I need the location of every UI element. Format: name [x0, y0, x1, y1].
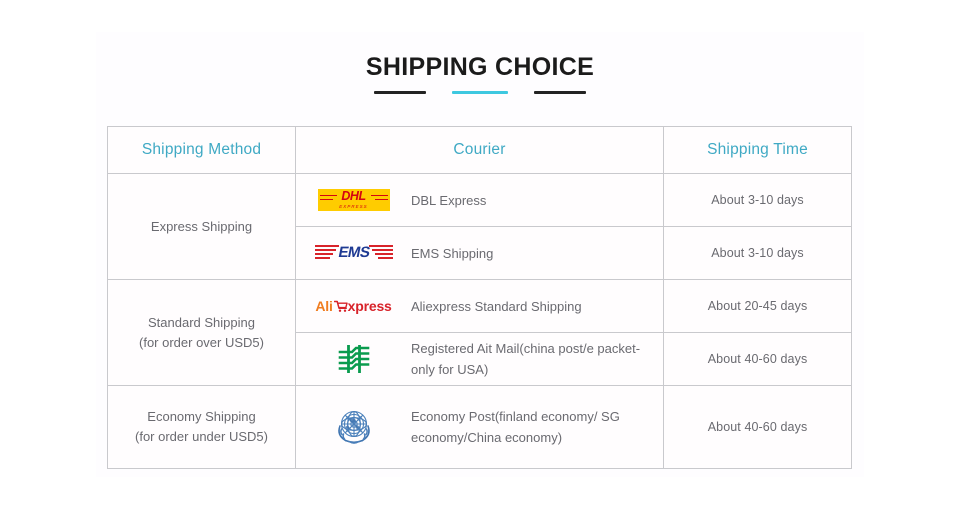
table-header-row: Shipping Method Courier Shipping Time	[108, 127, 852, 174]
courier-cell-aliexpress: Ali xpress A	[296, 280, 664, 333]
method-cell-express: Express Shipping	[108, 174, 296, 280]
aliexpress-logo: Ali xpress	[315, 298, 391, 314]
method-label-line2: (for order over USD5)	[108, 333, 295, 353]
title-rule-right	[534, 91, 586, 94]
time-cell: About 3-10 days	[664, 227, 852, 280]
courier-name: DBL Express	[411, 190, 494, 211]
title-rule-left	[374, 91, 426, 94]
time-cell: About 20-45 days	[664, 280, 852, 333]
logo-box: Ali xpress	[296, 298, 411, 314]
logo-box	[296, 339, 411, 379]
time-cell: About 40-60 days	[664, 333, 852, 386]
china-post-logo	[334, 339, 374, 379]
courier-name: Registered Ait Mail(china post/e packet-…	[411, 338, 663, 380]
method-cell-economy: Economy Shipping (for order under USD5)	[108, 386, 296, 469]
shopping-cart-icon	[334, 300, 348, 313]
page-title-block: SHIPPING CHOICE	[96, 52, 864, 94]
courier-name: EMS Shipping	[411, 243, 501, 264]
ems-logo: EMS	[315, 241, 393, 265]
logo-box	[296, 403, 411, 451]
un-emblem-logo	[330, 403, 378, 451]
page-title: SHIPPING CHOICE	[96, 52, 864, 82]
dhl-logo-word: DHL	[318, 190, 390, 203]
method-label-line1: Standard Shipping	[148, 315, 255, 330]
table-row: Economy Shipping (for order under USD5)	[108, 386, 852, 469]
ems-logo-word: EMS	[336, 244, 370, 261]
courier-cell-dhl: DHL EXPRESS DBL Express	[296, 174, 664, 227]
time-cell: About 3-10 days	[664, 174, 852, 227]
table-row: Standard Shipping (for order over USD5) …	[108, 280, 852, 333]
logo-box: EMS	[296, 241, 411, 265]
courier-cell-ems: EMS EMS Shipping	[296, 227, 664, 280]
courier-name: Economy Post(finland economy/ SG economy…	[411, 406, 663, 448]
dhl-logo: DHL EXPRESS	[318, 189, 390, 211]
column-header-shipping-method: Shipping Method	[108, 127, 296, 174]
shipping-choice-table: Shipping Method Courier Shipping Time Ex…	[107, 126, 852, 469]
aliexpress-logo-part1: Ali	[315, 298, 332, 314]
method-label-line1: Express Shipping	[151, 219, 252, 234]
title-rule-accent	[452, 91, 508, 94]
method-label-line1: Economy Shipping	[147, 409, 255, 424]
method-label-line2: (for order under USD5)	[108, 427, 295, 447]
courier-cell-china-post: Registered Ait Mail(china post/e packet-…	[296, 333, 664, 386]
aliexpress-logo-part2: xpress	[348, 298, 392, 314]
table-row: Express Shipping DHL EXPRESS DB	[108, 174, 852, 227]
courier-name: Aliexpress Standard Shipping	[411, 296, 590, 317]
dhl-logo-subtext: EXPRESS	[318, 204, 390, 210]
column-header-shipping-time: Shipping Time	[664, 127, 852, 174]
logo-box: DHL EXPRESS	[296, 189, 411, 211]
time-cell: About 40-60 days	[664, 386, 852, 469]
column-header-courier: Courier	[296, 127, 664, 174]
title-underline-decoration	[96, 91, 864, 94]
method-cell-standard: Standard Shipping (for order over USD5)	[108, 280, 296, 386]
courier-cell-economy-post: Economy Post(finland economy/ SG economy…	[296, 386, 664, 469]
